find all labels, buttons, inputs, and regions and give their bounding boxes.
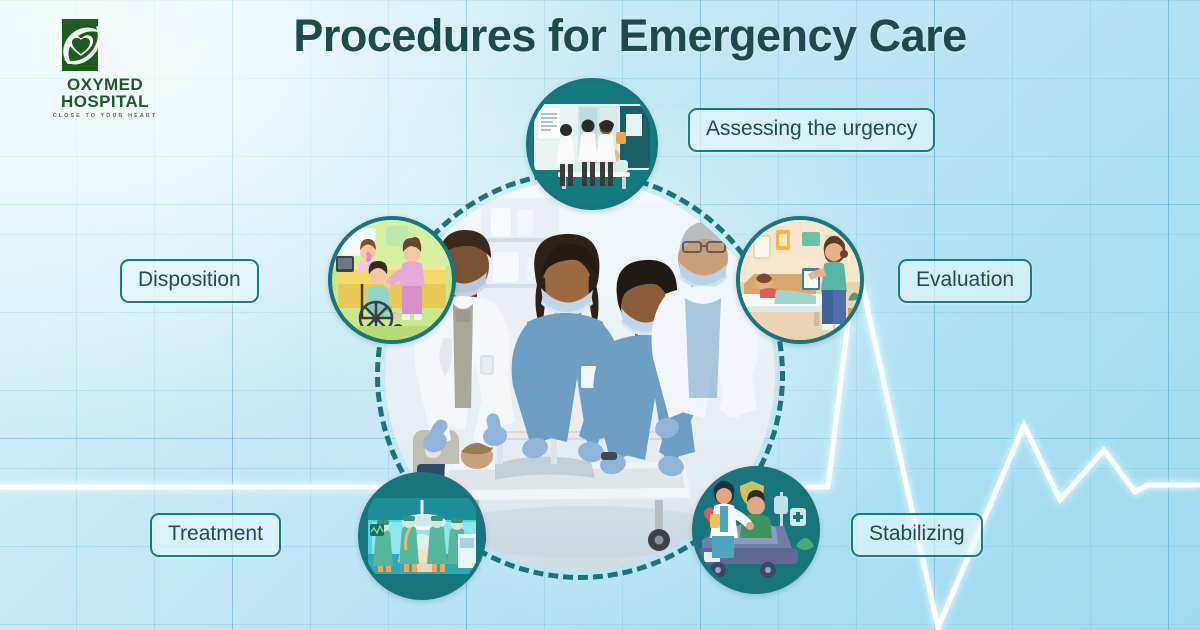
label-disposition[interactable]: Disposition: [120, 259, 259, 303]
operating-theater-illustration-icon: [362, 476, 482, 596]
brand-name: OXYMED HOSPITAL: [40, 77, 170, 110]
label-evaluation[interactable]: Evaluation: [898, 259, 1032, 303]
node-circle-assess[interactable]: [526, 78, 658, 210]
label-treatment[interactable]: Treatment: [150, 513, 281, 557]
node-circle-eval[interactable]: [736, 216, 864, 344]
triage-bedside-team-illustration-icon: [530, 82, 654, 206]
brand-tagline: CLOSE TO YOUR HEART: [40, 113, 170, 119]
brand-name-line2: HOSPITAL: [40, 94, 170, 111]
node-circle-stab[interactable]: [692, 466, 820, 594]
label-stabilizing[interactable]: Stabilizing: [851, 513, 983, 557]
nurse-with-clipboard-illustration-icon: [740, 220, 860, 340]
infographic-canvas: OXYMED HOSPITAL CLOSE TO YOUR HEART Proc…: [0, 0, 1200, 630]
node-circle-disp[interactable]: [328, 216, 456, 344]
node-circle-treat[interactable]: [358, 472, 486, 600]
wheelchair-discharge-reception-illustration-icon: [332, 220, 452, 340]
page-title: Procedures for Emergency Care: [0, 10, 1200, 62]
doctor-stabilizing-patient-illustration-icon: [696, 470, 816, 590]
label-assessing-the-urgency[interactable]: Assessing the urgency: [688, 108, 935, 152]
